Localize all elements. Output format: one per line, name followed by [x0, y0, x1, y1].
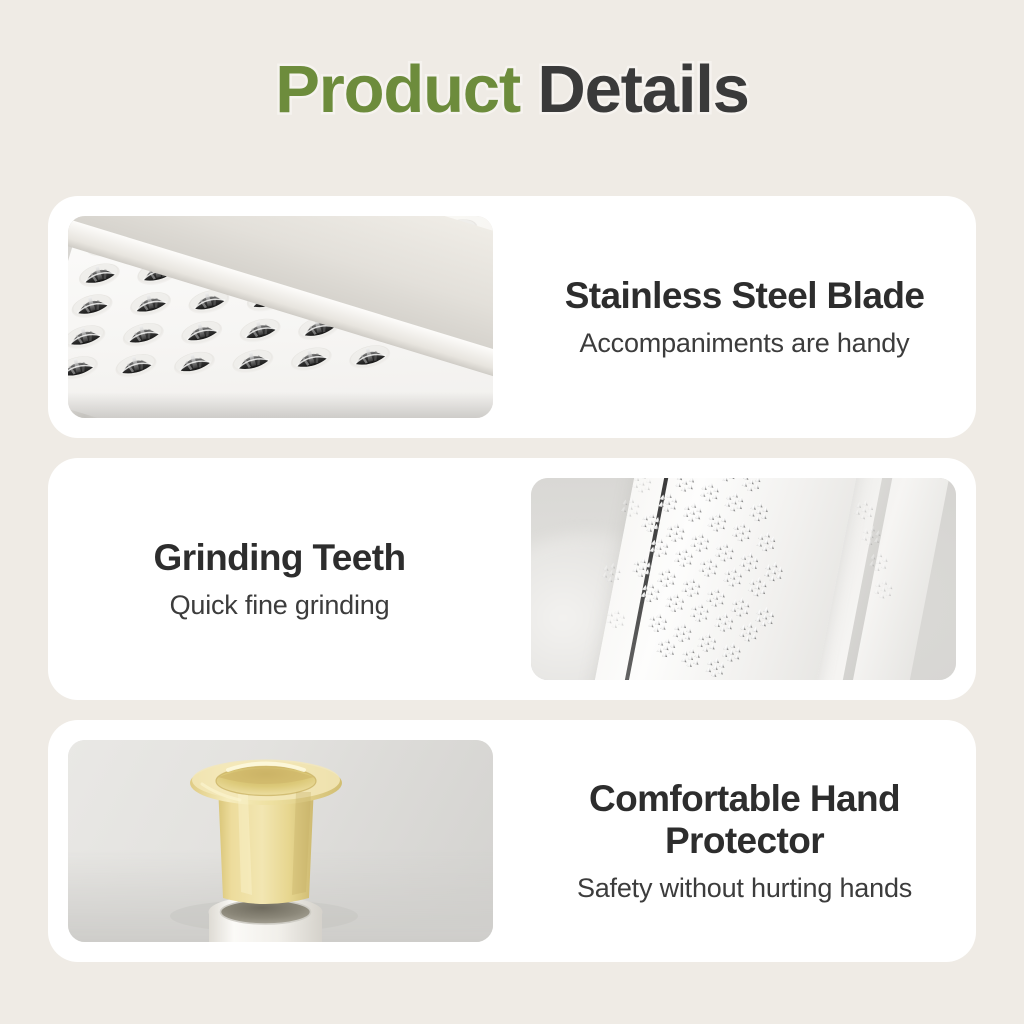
- grinding-teeth-pattern: [531, 478, 956, 680]
- grinding-teeth-strip-photo: [531, 478, 956, 680]
- page-title-rest: Details: [520, 52, 749, 127]
- feature-copy-1: Stainless Steel Blade Accompaniments are…: [513, 275, 976, 359]
- feature-subline: Safety without hurting hands: [523, 873, 966, 904]
- feature-copy-2: Grinding Teeth Quick fine grinding: [48, 537, 511, 621]
- feature-subline: Quick fine grinding: [58, 590, 501, 621]
- feature-headline: Grinding Teeth: [58, 537, 501, 578]
- hand-protector-illustration: [68, 740, 493, 942]
- feature-headline-line-2: Protector: [523, 820, 966, 861]
- grater-blade-plate-photo: [68, 216, 493, 418]
- photo-bottom-shade: [68, 392, 493, 418]
- feature-card-grinding-teeth: Grinding Teeth Quick fine grinding: [48, 458, 976, 700]
- feature-copy-3: Comfortable Hand Protector Safety withou…: [513, 778, 976, 904]
- feature-headline-line-1: Comfortable Hand: [523, 778, 966, 819]
- feature-card-stainless-steel-blade: Stainless Steel Blade Accompaniments are…: [48, 196, 976, 438]
- yellow-hand-protector-photo: [68, 740, 493, 942]
- page-title-accent: Product: [275, 52, 520, 127]
- feature-subline: Accompaniments are handy: [523, 328, 966, 359]
- feature-headline: Stainless Steel Blade: [523, 275, 966, 316]
- feature-card-comfortable-hand-protector: Comfortable Hand Protector Safety withou…: [48, 720, 976, 962]
- page-title: Product Details: [0, 56, 1024, 123]
- feature-headline: Comfortable Hand Protector: [523, 778, 966, 861]
